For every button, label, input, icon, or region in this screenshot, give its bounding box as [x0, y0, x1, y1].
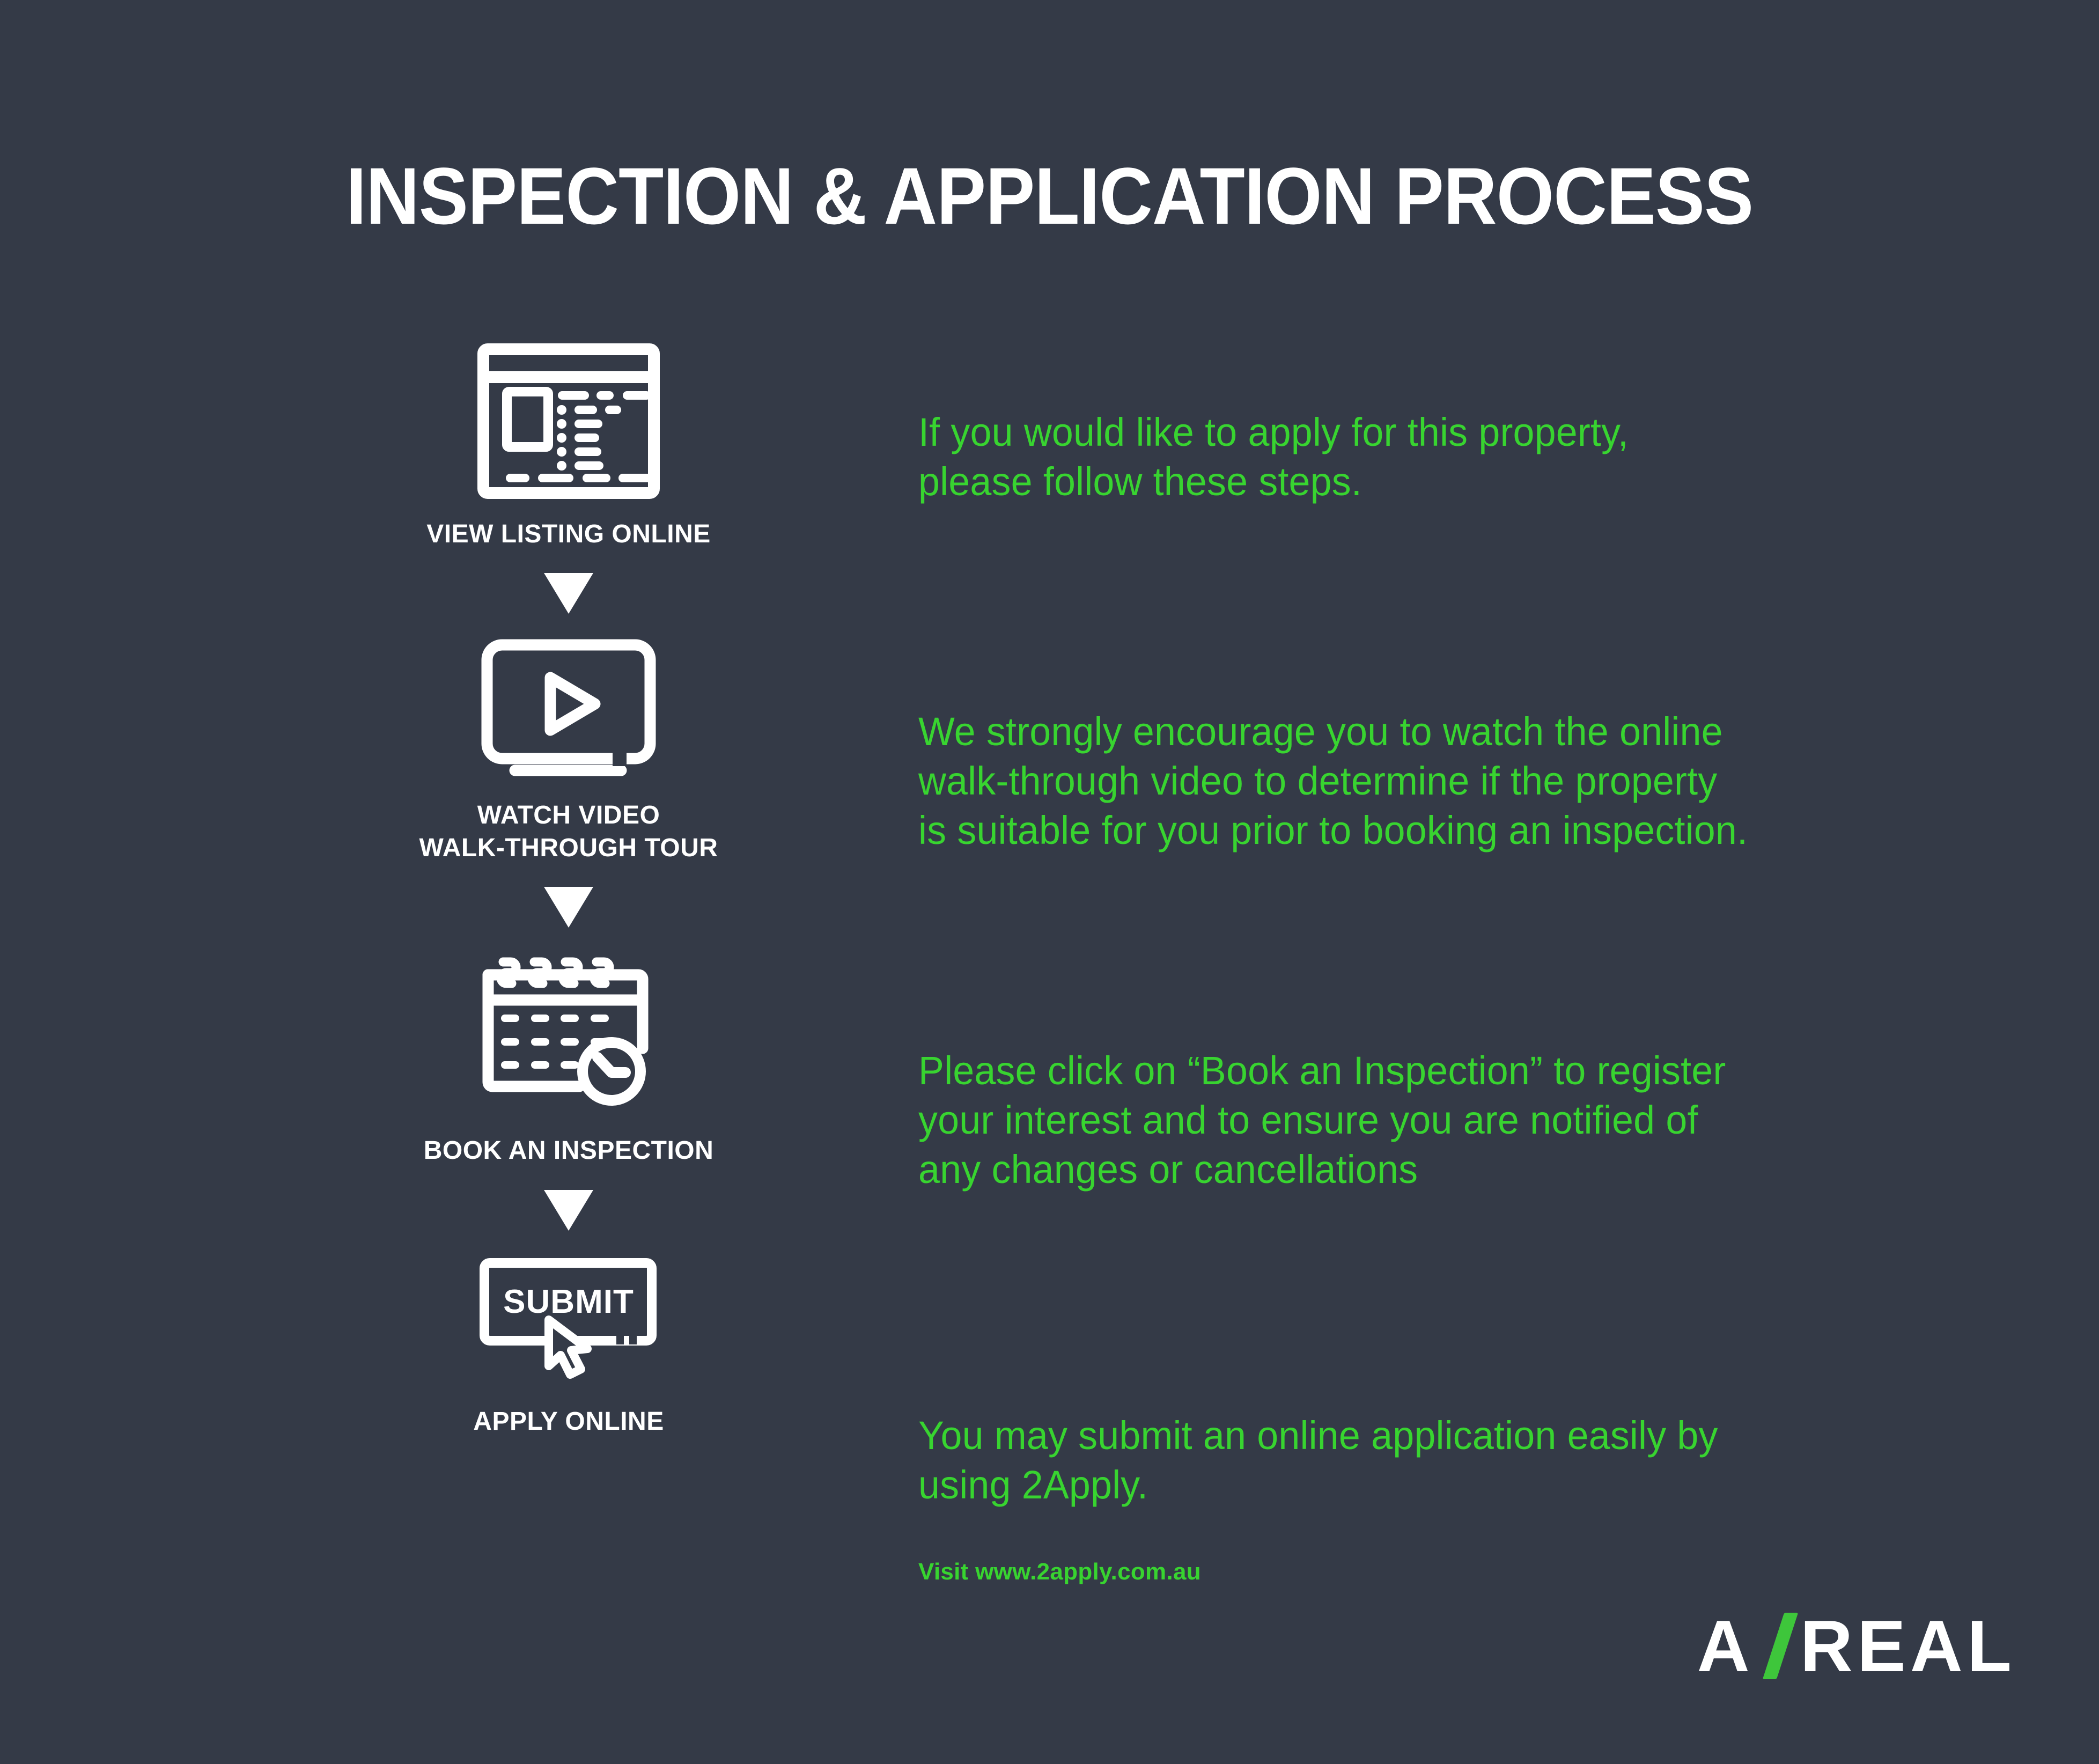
- down-triangle-arrow-icon: [544, 887, 593, 928]
- logo-letter-a: A: [1697, 1609, 1754, 1682]
- process-flow-column: VIEW LISTING ONLINE WATCH VIDEO WALK-THR…: [365, 343, 772, 1438]
- copy-step-3: Please click on “Book an Inspection” to …: [918, 1046, 1933, 1194]
- flow-step-watch-video: WATCH VIDEO WALK-THROUGH TOUR: [365, 635, 772, 864]
- copy-step-2: We strongly encourage you to watch the o…: [918, 707, 1933, 855]
- submit-icon-label: SUBMIT: [503, 1283, 634, 1320]
- infographic-page: INSPECTION & APPLICATION PROCESS: [0, 0, 2099, 1764]
- down-triangle-arrow-icon: [544, 573, 593, 614]
- logo-slash-icon: [1762, 1613, 1797, 1679]
- flow-step-apply-online: SUBMIT APPLY ONLINE: [365, 1252, 772, 1438]
- calendar-clock-icon: [365, 949, 772, 1115]
- flow-step-book-inspection: BOOK AN INSPECTION: [365, 949, 772, 1167]
- brand-logo: A REAL: [1697, 1609, 2016, 1682]
- copy-step-4: You may submit an online application eas…: [918, 1411, 1933, 1510]
- flow-step-label: BOOK AN INSPECTION: [365, 1135, 772, 1167]
- flow-step-label: VIEW LISTING ONLINE: [365, 518, 772, 550]
- copy-step-1: If you would like to apply for this prop…: [918, 408, 1907, 506]
- page-title: INSPECTION & APPLICATION PROCESS: [84, 156, 2015, 236]
- visit-url-text[interactable]: Visit www.2apply.com.au: [918, 1559, 1201, 1585]
- listing-window-icon: [365, 343, 772, 499]
- down-triangle-arrow-icon: [544, 1190, 593, 1231]
- flow-step-label: APPLY ONLINE: [365, 1406, 772, 1438]
- logo-word-real: REAL: [1800, 1609, 2016, 1682]
- submit-button-cursor-icon: SUBMIT: [365, 1252, 772, 1386]
- flow-step-view-listing: VIEW LISTING ONLINE: [365, 343, 772, 550]
- flow-step-label: WATCH VIDEO WALK-THROUGH TOUR: [365, 799, 772, 864]
- video-play-monitor-icon: [365, 635, 772, 780]
